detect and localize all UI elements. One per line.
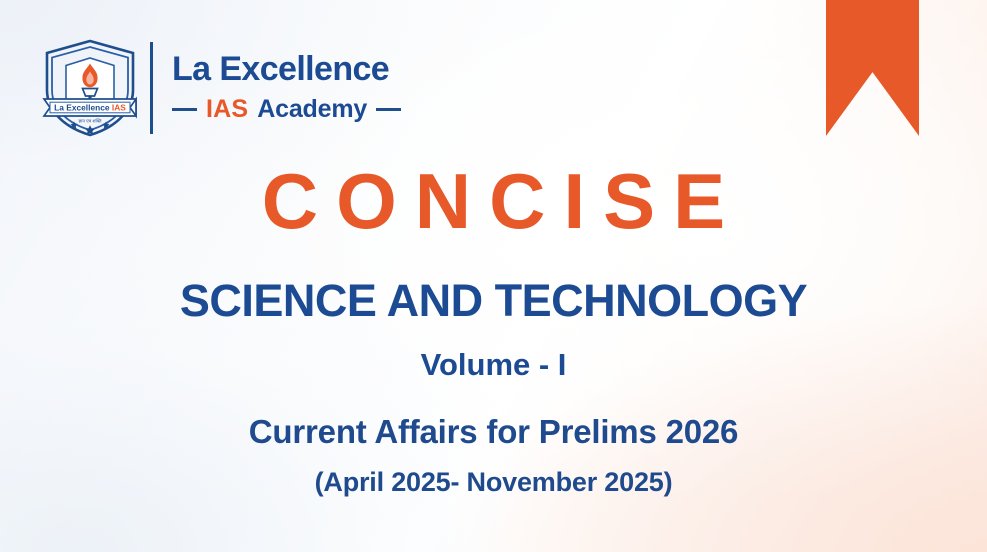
brand-name: La Excellence [172,52,401,88]
brand-academy-label: Academy [257,95,367,124]
brand-divider [150,42,153,134]
dash-right-icon [376,108,401,111]
volume-label: Volume - I [0,348,987,382]
brand-text-block: La Excellence IAS Academy [172,52,401,125]
page-title: CONCISE [0,162,987,240]
shield-torch-flame-icon: La Excellence IAS ज्ञान एव शक्ति [36,38,144,138]
subject-title: SCIENCE AND TECHNOLOGY [0,277,987,326]
date-range: (April 2025- November 2025) [0,468,987,498]
brand-subtitle: IAS Academy [172,95,401,124]
brand-ias-label: IAS [206,95,248,124]
brand-lockup: La Excellence IAS ज्ञान एव शक्ति La Exce… [36,38,401,138]
dash-left-icon [172,108,197,111]
crest-banner-text: La Excellence IAS [54,103,126,113]
book-cover-page: La Excellence IAS ज्ञान एव शक्ति La Exce… [0,0,987,552]
crest-motto-text: ज्ञान एव शक्ति [78,119,102,125]
bookmark-ribbon-icon [826,0,919,136]
exam-line: Current Affairs for Prelims 2026 [0,414,987,450]
